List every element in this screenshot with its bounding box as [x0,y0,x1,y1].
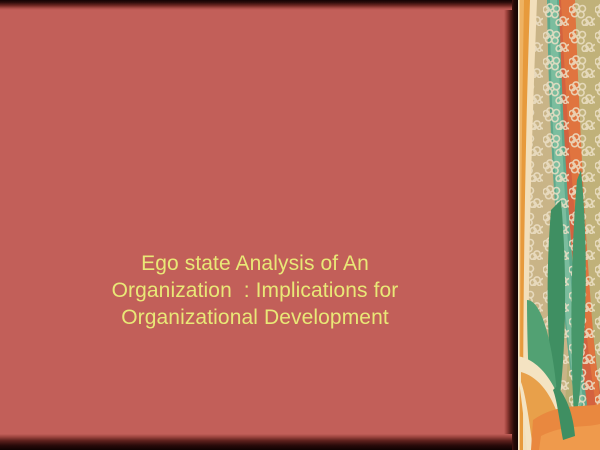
slide-border-top [0,0,512,10]
slide-border-right [504,0,518,450]
slide-border-bottom [0,434,512,450]
slide-title: Ego state Analysis of An Organization : … [40,250,470,331]
title-line-1: Ego state Analysis of An [40,250,470,277]
title-line-3: Organizational Development [40,304,470,331]
floral-side-border [517,0,600,450]
presentation-slide: Ego state Analysis of An Organization : … [0,0,600,450]
slide-background [0,0,512,450]
ornament-graphic [517,0,600,450]
title-line-2: Organization : Implications for [40,277,470,304]
